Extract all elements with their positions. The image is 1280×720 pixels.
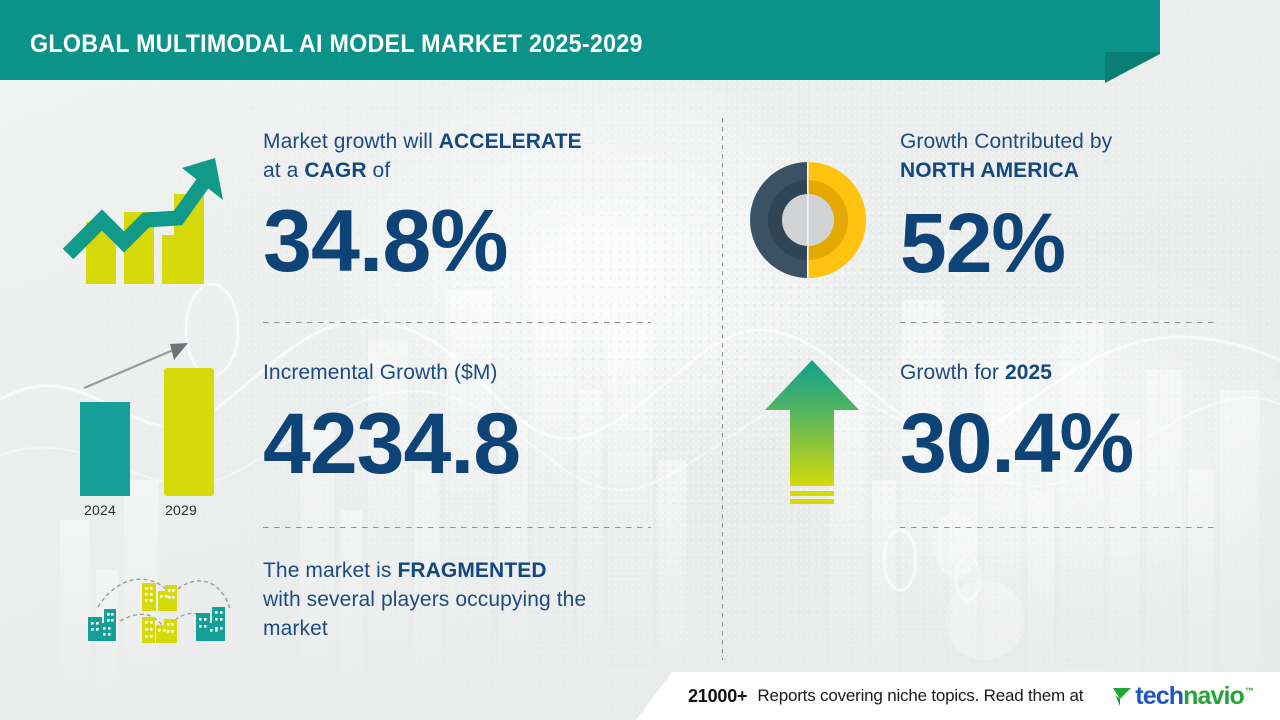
- logo-text-tech: tech: [1135, 682, 1183, 710]
- stat-cagr-value: 34.8%: [263, 197, 663, 285]
- up-arrow-icon: [762, 358, 862, 513]
- footer-tagline: Reports covering niche topics. Read them…: [757, 686, 1083, 706]
- footer-report-count: 21000+: [688, 686, 747, 707]
- growth-arrow-chart-icon: [62, 150, 232, 300]
- frag-text-a: The market is: [263, 559, 397, 582]
- header-fold-corner: [1105, 52, 1163, 85]
- stat-cagr-label: Market growth will ACCELERATE at a CAGR …: [263, 127, 663, 185]
- cagr-text-c: of: [367, 159, 391, 182]
- na-text-region: NORTH AMERICA: [900, 159, 1079, 182]
- technavio-logo[interactable]: technavio™: [1111, 682, 1253, 711]
- logo-trademark: ™: [1245, 686, 1253, 696]
- stat-incremental-value: 4234.8: [263, 401, 663, 487]
- cagr-text-accelerate: ACCELERATE: [439, 130, 582, 153]
- bar-label-2029: 2029: [165, 502, 197, 518]
- frag-text-c: market: [263, 617, 328, 640]
- na-text-a: Growth Contributed by: [900, 130, 1112, 153]
- city-clusters-icon: [70, 565, 248, 660]
- cagr-text-a: Market growth will: [263, 130, 439, 153]
- stat-incremental-label: Incremental Growth ($M): [263, 358, 663, 387]
- stat-north-america: Growth Contributed by NORTH AMERICA 52%: [900, 127, 1230, 285]
- stat-growth-2025: Growth for 2025 30.4%: [900, 358, 1230, 485]
- stat-growth-2025-value: 30.4%: [900, 401, 1230, 485]
- two-bar-comparison-icon: 2024 2029: [62, 330, 232, 530]
- stat-fragmentation: The market is FRAGMENTED with several pl…: [263, 556, 683, 643]
- technavio-mark-icon: [1111, 685, 1133, 707]
- cagr-text-cagr: CAGR: [304, 159, 366, 182]
- frag-text-fragmented: FRAGMENTED: [397, 559, 546, 582]
- stat-cagr: Market growth will ACCELERATE at a CAGR …: [263, 127, 663, 285]
- page-title: GLOBAL MULTIMODAL AI MODEL MARKET 2025-2…: [30, 30, 643, 59]
- bar-label-2024: 2024: [84, 502, 116, 518]
- stat-growth-2025-label: Growth for 2025: [900, 358, 1230, 387]
- infographic-page: GLOBAL MULTIMODAL AI MODEL MARKET 2025-2…: [0, 0, 1280, 720]
- frag-text-b: with several players occupying the: [263, 588, 586, 611]
- divider-left-1: [263, 322, 651, 323]
- stat-fragmentation-label: The market is FRAGMENTED with several pl…: [263, 556, 683, 643]
- cagr-text-b: at a: [263, 159, 304, 182]
- g2025-text-year: 2025: [1005, 361, 1052, 384]
- g2025-text-a: Growth for: [900, 361, 1005, 384]
- stat-north-america-label: Growth Contributed by NORTH AMERICA: [900, 127, 1230, 185]
- logo-text-navio: navio: [1183, 682, 1244, 710]
- footer-bar: 21000+ Reports covering niche topics. Re…: [636, 672, 1280, 720]
- donut-chart-icon: [748, 160, 868, 285]
- divider-right-1: [900, 322, 1218, 323]
- stat-incremental-growth: Incremental Growth ($M) 4234.8: [263, 358, 663, 487]
- divider-right-2: [900, 527, 1218, 528]
- stat-north-america-value: 52%: [900, 201, 1230, 285]
- column-divider: [722, 118, 723, 660]
- divider-left-2: [263, 527, 651, 528]
